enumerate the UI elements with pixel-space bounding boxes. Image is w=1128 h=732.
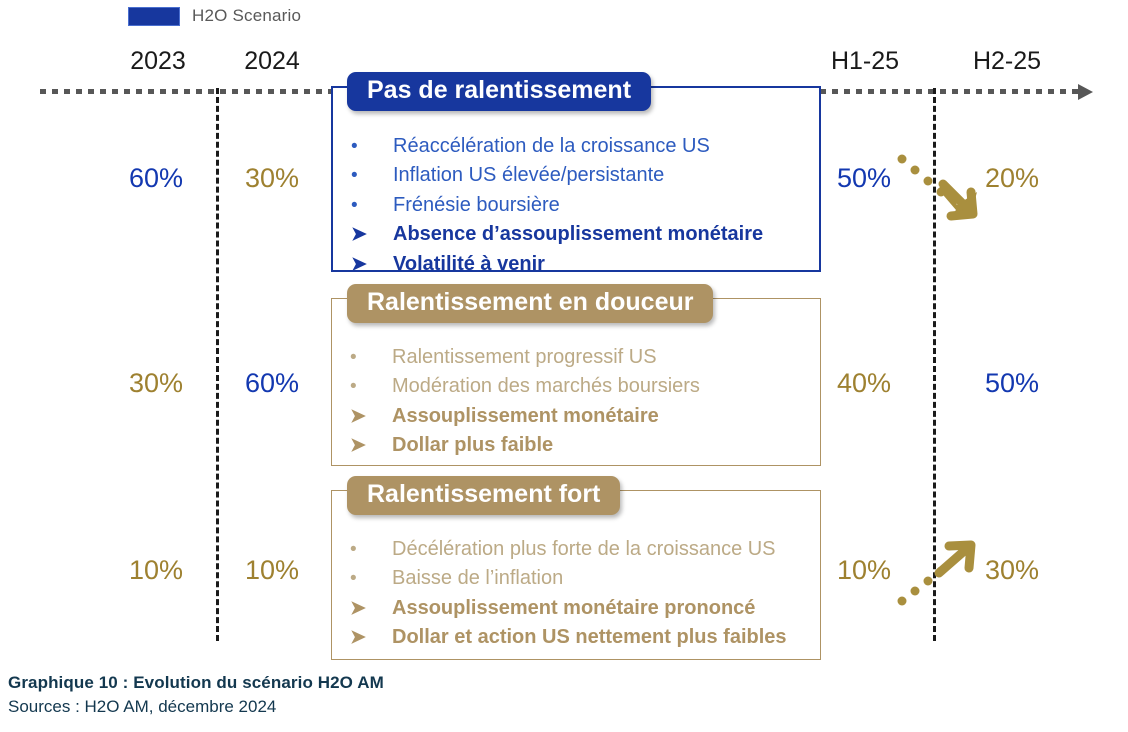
period-label-2023: 2023 [108, 47, 208, 76]
arrow-bullet-marker-icon: ➤ [350, 595, 392, 623]
list-item-label: Dollar plus faible [392, 431, 553, 460]
list-item: • Frénésie boursière [351, 191, 819, 220]
scenario-body-box: • Décélération plus forte de la croissan… [331, 490, 821, 660]
probability-scenario2-h1-25: 40% [810, 368, 918, 399]
list-item: ➤ Dollar et action US nettement plus fai… [350, 623, 820, 652]
list-item-label: Absence d’assouplissement monétaire [393, 220, 763, 249]
scenario-bullet-list: • Ralentissement progressif US • Modérat… [332, 299, 820, 475]
probability-scenario1-2023: 60% [102, 163, 210, 194]
list-item-label: Réaccélération de la croissance US [393, 132, 710, 161]
bullet-marker-icon: • [350, 373, 392, 401]
scenario-title-banner: Pas de ralentissement [347, 72, 651, 111]
probability-scenario2-h2-25: 50% [958, 368, 1066, 399]
caption-source: Sources : H2O AM, décembre 2024 [8, 697, 384, 717]
chart-caption: Graphique 10 : Evolution du scénario H2O… [8, 673, 384, 717]
divider-h1-h2 [933, 88, 936, 641]
arrow-bullet-marker-icon: ➤ [350, 624, 392, 652]
list-item-label: Ralentissement progressif US [392, 343, 657, 372]
list-item-label: Frénésie boursière [393, 191, 560, 220]
legend-label: H2O Scenario [192, 6, 301, 26]
probability-scenario1-h1-25: 50% [810, 163, 918, 194]
scenario-body-box: • Réaccélération de la croissance US • I… [331, 86, 821, 272]
bullet-marker-icon: • [350, 565, 392, 593]
probability-scenario3-h1-25: 10% [810, 555, 918, 586]
scenario-bullet-list: • Décélération plus forte de la croissan… [332, 491, 820, 667]
arrow-bullet-marker-icon: ➤ [350, 432, 392, 460]
probability-scenario2-2024: 60% [218, 368, 326, 399]
list-item: ➤ Volatilité à venir [351, 250, 819, 279]
probability-scenario1-2024: 30% [218, 163, 326, 194]
list-item: ➤ Dollar plus faible [350, 431, 820, 460]
list-item: • Ralentissement progressif US [350, 343, 820, 372]
list-item-label: Volatilité à venir [393, 250, 545, 279]
bullet-marker-icon: • [350, 536, 392, 564]
list-item-label: Assouplissement monétaire [392, 402, 659, 431]
legend: H2O Scenario [128, 6, 301, 26]
list-item-label: Inflation US élevée/persistante [393, 161, 664, 190]
list-item: ➤ Assouplissement monétaire prononcé [350, 594, 820, 623]
probability-scenario3-h2-25: 30% [958, 555, 1066, 586]
bullet-marker-icon: • [350, 344, 392, 372]
list-item-label: Baisse de l’inflation [392, 564, 563, 593]
list-item: • Décélération plus forte de la croissan… [350, 535, 820, 564]
scenario-title-banner: Ralentissement en douceur [347, 284, 713, 323]
arrow-bullet-marker-icon: ➤ [350, 403, 392, 431]
list-item-label: Assouplissement monétaire prononcé [392, 594, 755, 623]
list-item: • Inflation US élevée/persistante [351, 161, 819, 190]
period-label-h1-25: H1-25 [815, 47, 915, 76]
right-arrow-icon [1078, 84, 1093, 100]
caption-title: Graphique 10 : Evolution du scénario H2O… [8, 673, 384, 693]
bullet-marker-icon: • [351, 133, 393, 161]
scenario-body-box: • Ralentissement progressif US • Modérat… [331, 298, 821, 466]
list-item: ➤ Assouplissement monétaire [350, 402, 820, 431]
scenario-title-banner: Ralentissement fort [347, 476, 620, 515]
list-item: • Réaccélération de la croissance US [351, 132, 819, 161]
list-item-label: Dollar et action US nettement plus faibl… [392, 623, 787, 652]
list-item: • Baisse de l’inflation [350, 564, 820, 593]
legend-swatch-icon [128, 7, 180, 26]
scenario-bullet-list: • Réaccélération de la croissance US • I… [333, 88, 819, 293]
probability-scenario3-2024: 10% [218, 555, 326, 586]
list-item: • Modération des marchés boursiers [350, 372, 820, 401]
arrow-bullet-marker-icon: ➤ [351, 221, 393, 249]
arrow-bullet-marker-icon: ➤ [351, 251, 393, 279]
list-item-label: Décélération plus forte de la croissance… [392, 535, 776, 564]
bullet-marker-icon: • [351, 162, 393, 190]
list-item: ➤ Absence d’assouplissement monétaire [351, 220, 819, 249]
probability-scenario1-h2-25: 20% [958, 163, 1066, 194]
period-label-2024: 2024 [222, 47, 322, 76]
probability-scenario3-2023: 10% [102, 555, 210, 586]
bullet-marker-icon: • [351, 192, 393, 220]
period-label-h2-25: H2-25 [957, 47, 1057, 76]
probability-scenario2-2023: 30% [102, 368, 210, 399]
list-item-label: Modération des marchés boursiers [392, 372, 700, 401]
